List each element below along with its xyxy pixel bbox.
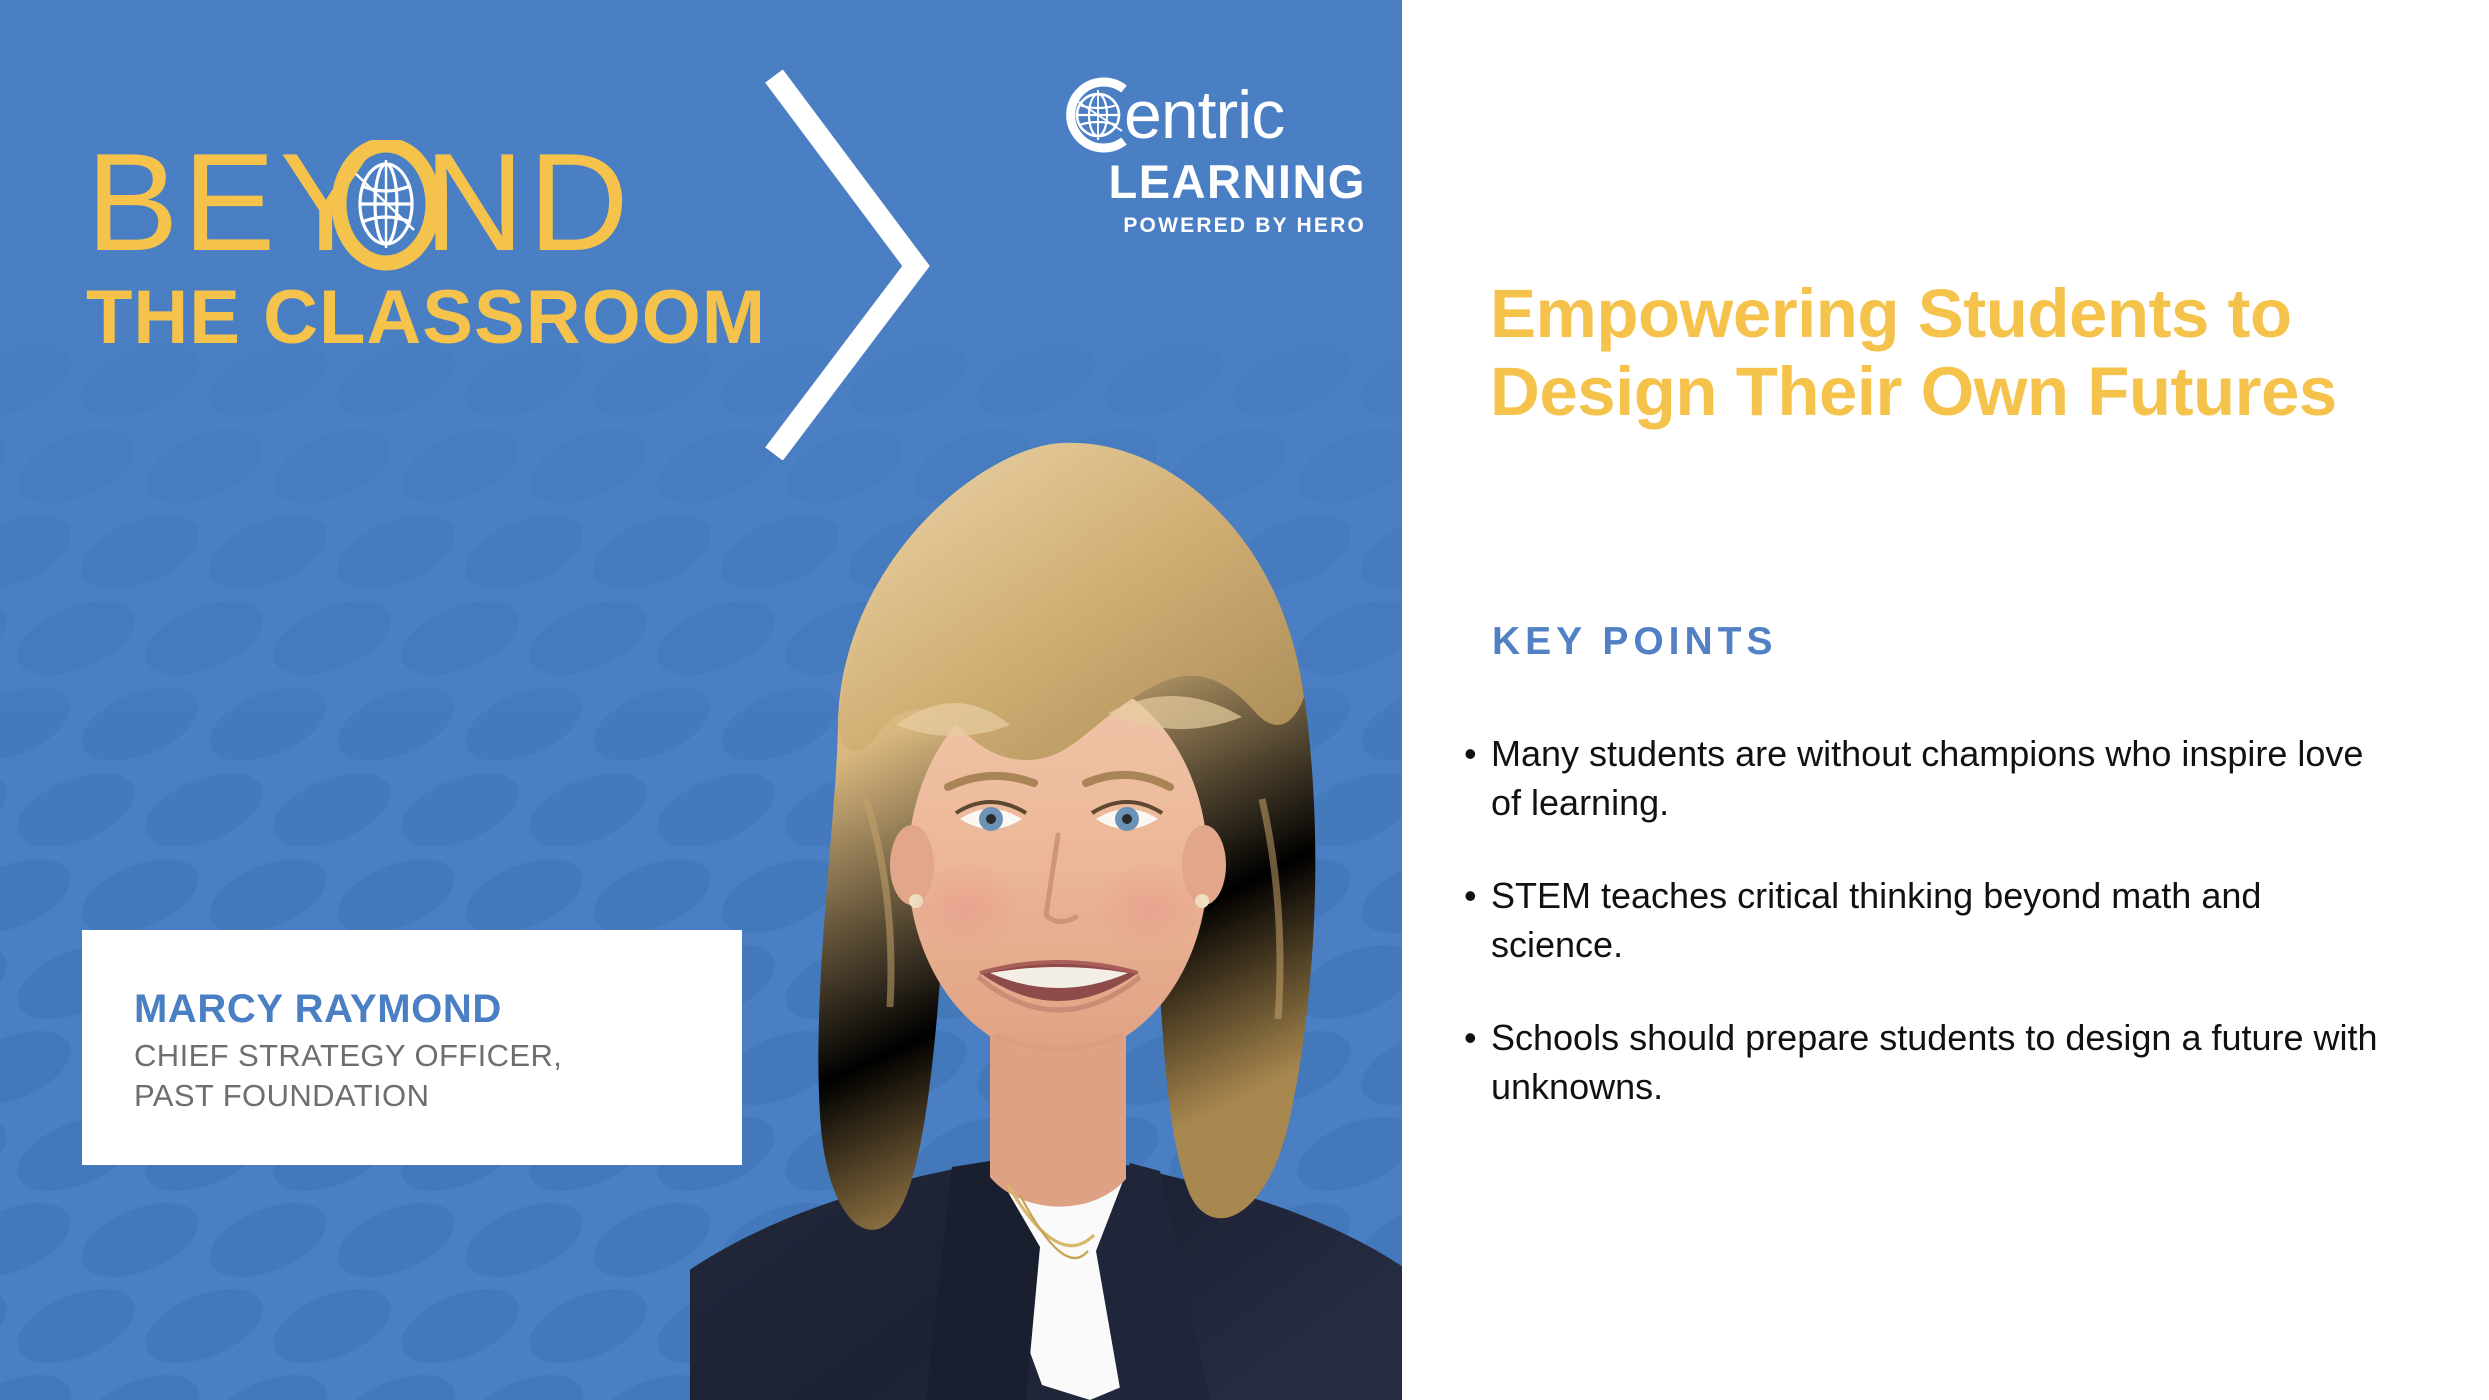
key-point-item: •Schools should prepare students to desi…: [1458, 1014, 2393, 1112]
globe-icon: [1074, 90, 1122, 140]
key-point-text: Schools should prepare students to desig…: [1491, 1017, 2378, 1107]
presentation-slide: BEY ND THE CLASSROOM: [0, 0, 2489, 1400]
neck: [990, 1035, 1126, 1207]
key-point-item: •Many students are without champions who…: [1458, 730, 2393, 828]
brand-logo: entric LEARNING POWERED BY HERO: [1046, 72, 1366, 238]
right-cheek: [1092, 863, 1208, 951]
speaker-role: CHIEF STRATEGY OFFICER, PAST FOUNDATION: [134, 1036, 742, 1115]
bullet-marker-icon: •: [1464, 872, 1477, 921]
speaker-name-card: MARCY RAYMOND CHIEF STRATEGY OFFICER, PA…: [82, 930, 742, 1165]
brand-c-svg: [1046, 72, 1138, 158]
portrait-illustration: [690, 395, 1402, 1400]
brand-logo-top: entric: [1046, 72, 1366, 158]
beyond-wordmark: BEY ND: [86, 140, 816, 272]
brand-c-mark: [1046, 72, 1138, 158]
speaker-role-line1: CHIEF STRATEGY OFFICER,: [134, 1036, 742, 1076]
bullet-marker-icon: •: [1464, 730, 1477, 779]
key-point-text: STEM teaches critical thinking beyond ma…: [1491, 875, 2261, 965]
beyond-text-svg: BEY ND: [86, 140, 816, 272]
show-title-lockup: BEY ND THE CLASSROOM: [86, 140, 816, 356]
brand-subtitle: LEARNING: [1046, 154, 1366, 209]
brand-name: entric: [1124, 83, 1284, 148]
speaker-role-line2: PAST FOUNDATION: [134, 1076, 742, 1116]
left-cheek: [908, 863, 1024, 951]
right-content-panel: Empowering Students to Design Their Own …: [1402, 0, 2489, 1400]
speaker-card-content: MARCY RAYMOND CHIEF STRATEGY OFFICER, PA…: [82, 930, 742, 1115]
key-points-heading: KEY POINTS: [1492, 620, 1778, 664]
brand-tagline: POWERED BY HERO: [1046, 214, 1366, 238]
bullet-marker-icon: •: [1464, 1014, 1477, 1063]
left-blue-panel: BEY ND THE CLASSROOM: [0, 0, 1402, 1400]
speaker-name: MARCY RAYMOND: [134, 988, 742, 1030]
svg-text:ND: ND: [424, 140, 633, 272]
show-title-line2: THE CLASSROOM: [86, 280, 816, 356]
key-point-item: •STEM teaches critical thinking beyond m…: [1458, 872, 2393, 970]
key-points-list: •Many students are without champions who…: [1458, 730, 2393, 1156]
key-point-text: Many students are without champions who …: [1491, 733, 2363, 823]
page-title: Empowering Students to Design Their Own …: [1490, 275, 2430, 431]
speaker-portrait: [690, 395, 1402, 1400]
